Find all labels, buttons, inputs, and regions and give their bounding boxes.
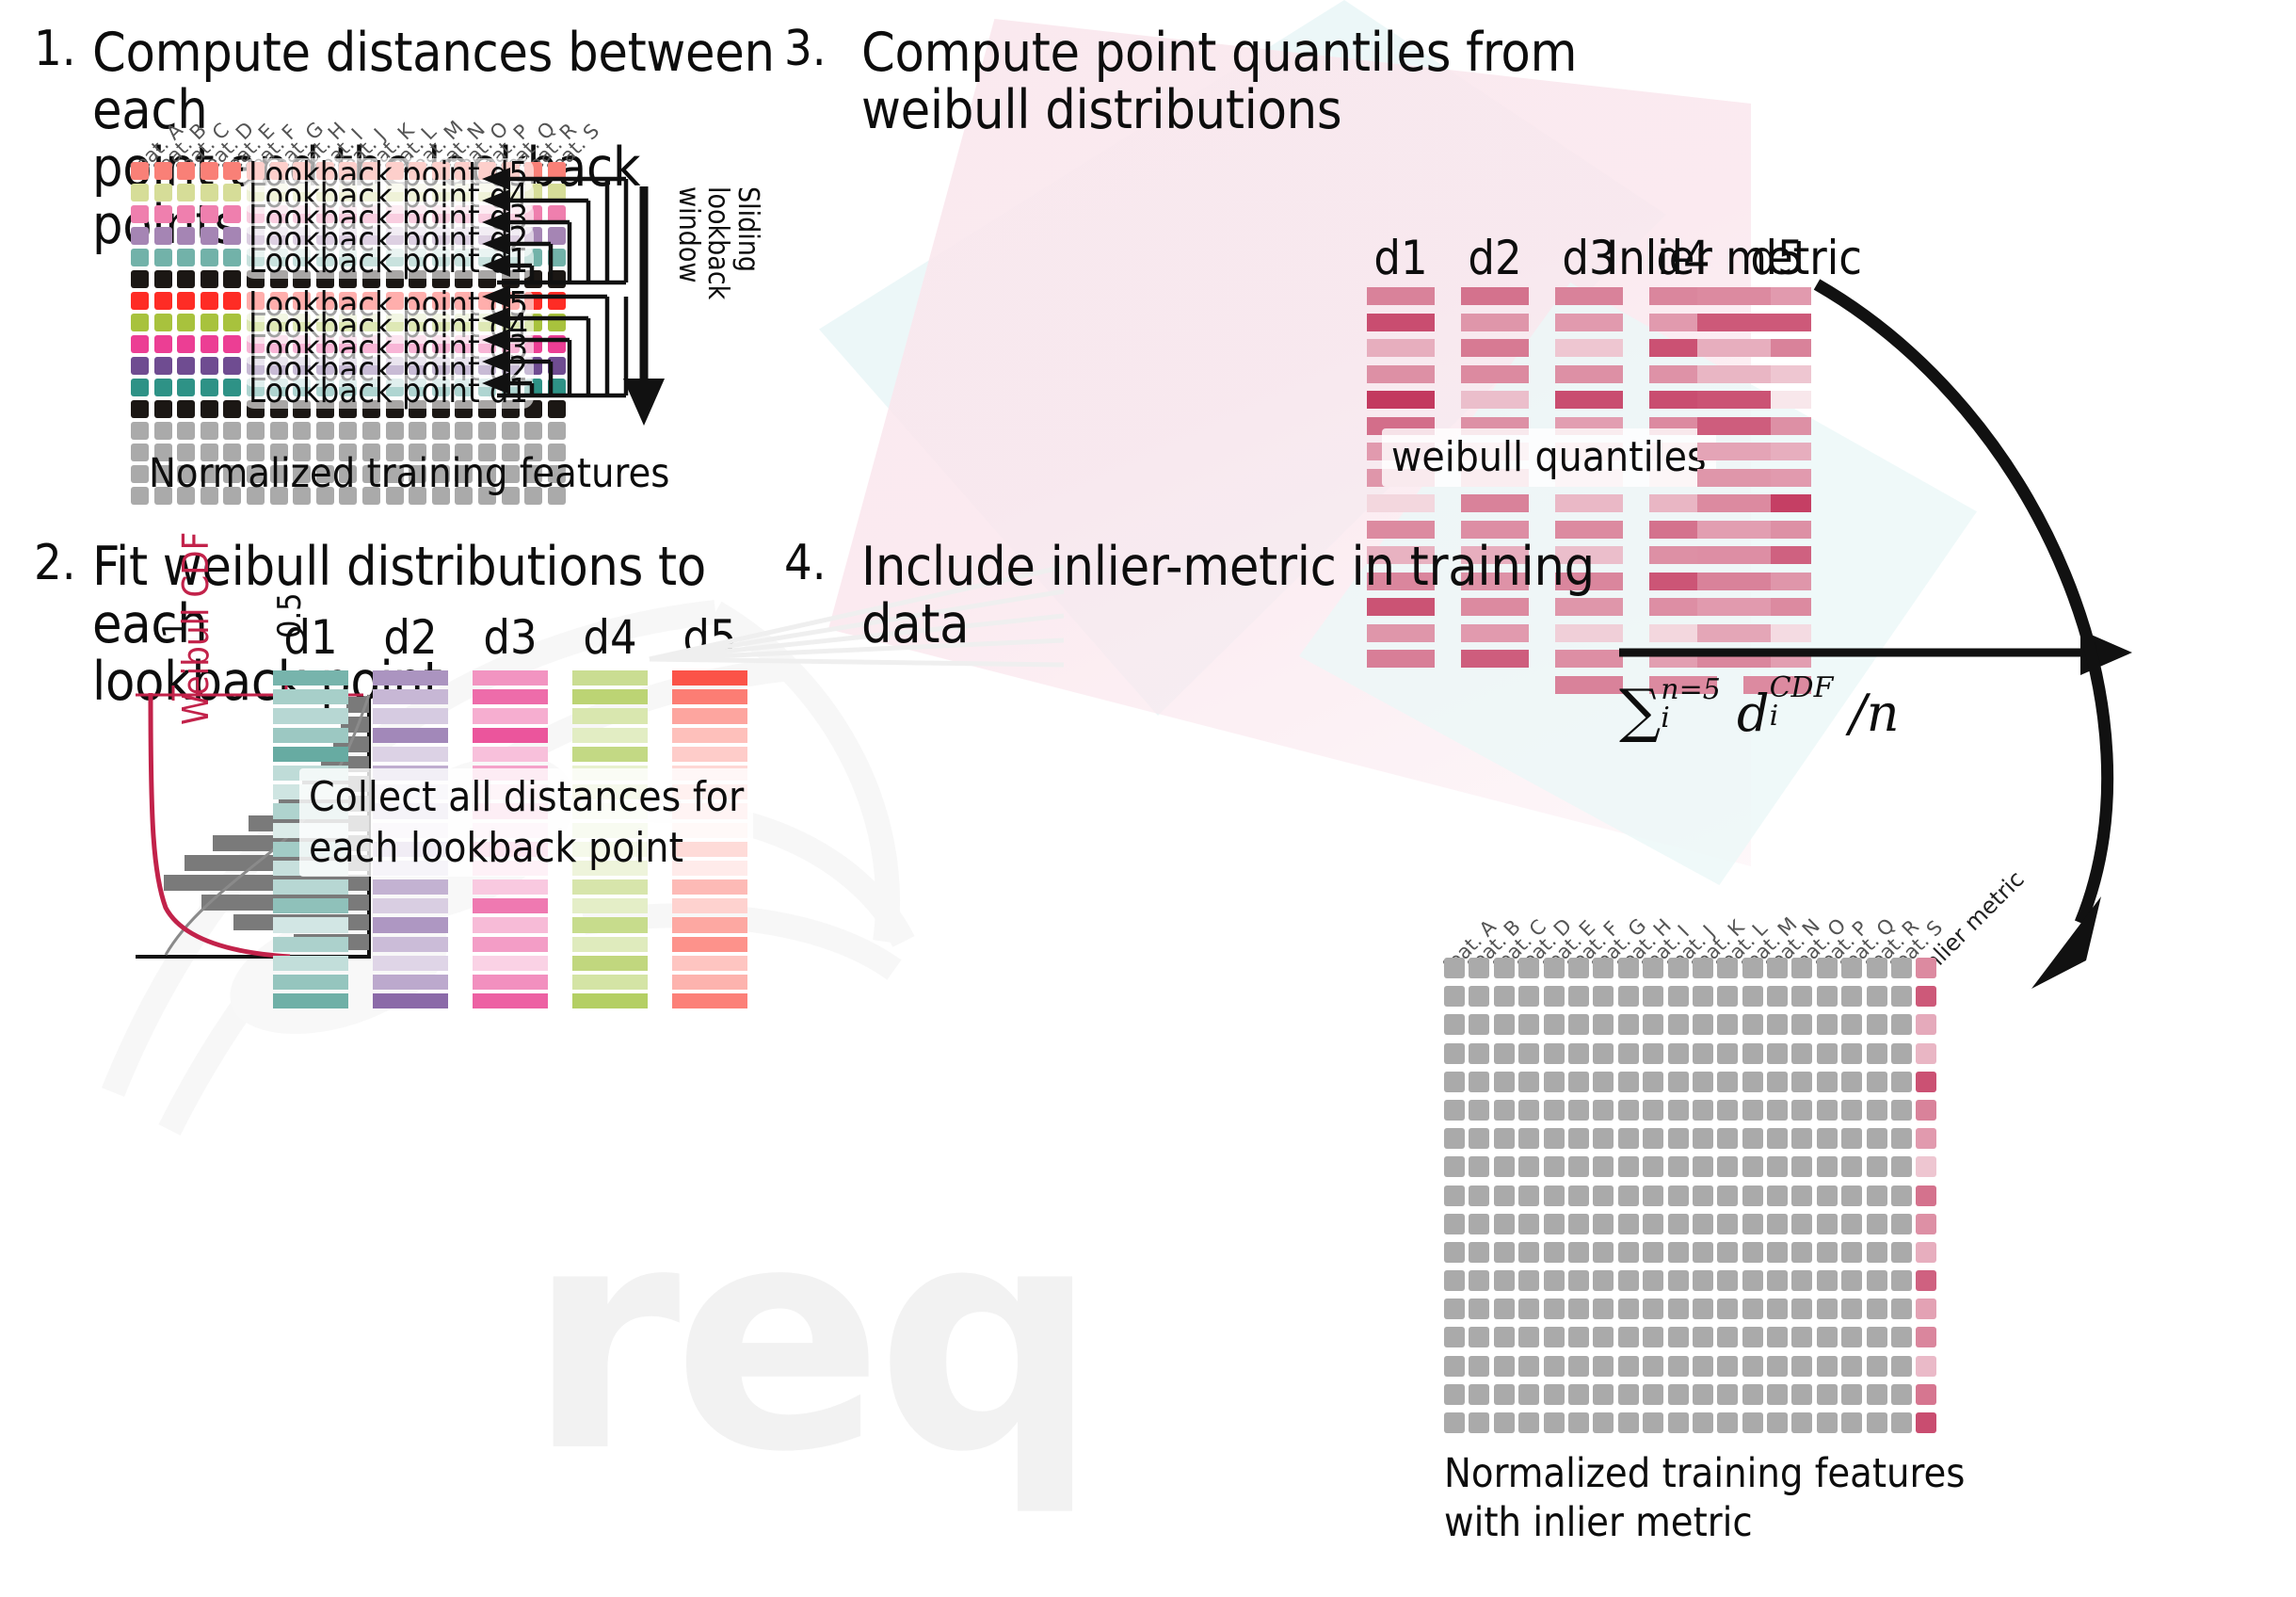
quantile-bar — [1555, 365, 1623, 383]
grid-cell — [1891, 1014, 1912, 1035]
grid-cell — [1867, 986, 1887, 1007]
inlier-metric-cell — [1916, 1128, 1936, 1149]
grid-cell — [1767, 1156, 1788, 1177]
grid-cell — [1693, 1100, 1713, 1121]
inlier-metric-cell — [1916, 1412, 1936, 1433]
grid-cell — [1693, 1214, 1713, 1234]
grid-cell — [1867, 1128, 1887, 1149]
grid-cell — [1668, 1072, 1689, 1092]
distance-bar — [572, 956, 648, 971]
grid-cell — [1841, 1356, 1862, 1377]
grid-cell — [1841, 1384, 1862, 1405]
grid-cell — [1544, 1242, 1565, 1263]
grid-cell — [1717, 1412, 1738, 1433]
grid-cell — [1518, 986, 1539, 1007]
grid-cell — [1469, 1100, 1489, 1121]
quantile-bar — [1461, 391, 1529, 409]
distance-bar — [572, 747, 648, 762]
grid-cell — [1593, 1356, 1614, 1377]
grid-cell — [1668, 1128, 1689, 1149]
grid-cell — [1891, 1242, 1912, 1263]
grid-cell — [1618, 1270, 1639, 1291]
grid-cell — [1593, 1014, 1614, 1035]
inlier-metric-cell — [1916, 1186, 1936, 1206]
grid-cell — [1544, 1356, 1565, 1377]
quantile-bar — [1461, 365, 1529, 383]
grid-cell — [1717, 986, 1738, 1007]
grid-cell — [1618, 1128, 1639, 1149]
grid-cell — [1618, 1412, 1639, 1433]
grid-cell — [1568, 1356, 1589, 1377]
grid-cell — [1668, 1299, 1689, 1319]
grid-cell — [1593, 1299, 1614, 1319]
grid-cell — [1791, 986, 1812, 1007]
grid-cell — [1568, 1043, 1589, 1064]
grid-cell — [1742, 1100, 1763, 1121]
grid-cell — [1791, 1156, 1812, 1177]
grid-cell — [1867, 958, 1887, 978]
grid-cell — [1494, 1384, 1515, 1405]
grid-cell — [1494, 1043, 1515, 1064]
grid-cell — [1891, 1356, 1912, 1377]
distance-bar — [672, 956, 747, 971]
grid-cell — [1742, 1270, 1763, 1291]
grid-cell — [1717, 1156, 1738, 1177]
grid-cell — [1841, 986, 1862, 1007]
grid-cell — [1444, 1043, 1465, 1064]
grid-cell — [1494, 1270, 1515, 1291]
grid-cell — [1817, 1412, 1838, 1433]
grid-cell — [1767, 1186, 1788, 1206]
grid-cell — [1494, 958, 1515, 978]
distance-bar — [672, 689, 747, 704]
grid-cell — [1693, 1242, 1713, 1263]
grid-cell — [1643, 1100, 1663, 1121]
grid-cell — [1668, 986, 1689, 1007]
distance-bar — [273, 956, 348, 971]
distance-bar — [273, 898, 348, 913]
panel2-overlay-label: Collect all distances for each lookback … — [299, 768, 753, 877]
grid-cell — [1867, 1412, 1887, 1433]
grid-cell — [1469, 1043, 1489, 1064]
grid-cell — [1791, 1186, 1812, 1206]
grid-cell — [1717, 1186, 1738, 1206]
step-2-number: 2. — [34, 539, 76, 588]
grid-cell — [1444, 1128, 1465, 1149]
grid-cell — [1693, 1270, 1713, 1291]
grid-cell — [1518, 1072, 1539, 1092]
grid-cell — [1791, 958, 1812, 978]
grid-cell — [1668, 1014, 1689, 1035]
grid-cell — [1444, 1014, 1465, 1035]
grid-cell — [1693, 1412, 1713, 1433]
distance-bar — [572, 708, 648, 723]
grid-cell — [1618, 1186, 1639, 1206]
grid-cell — [1742, 1242, 1763, 1263]
distance-bar — [672, 993, 747, 1008]
grid-cell — [1544, 1100, 1565, 1121]
grid-cell — [1568, 1156, 1589, 1177]
grid-cell — [1568, 1072, 1589, 1092]
inlier-metric-cell — [1916, 1043, 1936, 1064]
grid-cell — [1469, 986, 1489, 1007]
grid-cell — [1444, 1356, 1465, 1377]
grid-cell — [1494, 1242, 1515, 1263]
grid-cell — [1867, 1327, 1887, 1347]
grid-cell — [1568, 1128, 1589, 1149]
panel4-feature-grid — [1444, 958, 1936, 1441]
grid-cell — [1469, 1072, 1489, 1092]
grid-cell — [1494, 986, 1515, 1007]
panel4-grid-row — [1444, 1327, 1936, 1355]
grid-cell — [1518, 1356, 1539, 1377]
grid-cell — [1593, 1214, 1614, 1234]
distance-bar — [572, 937, 648, 952]
grid-cell — [1693, 1043, 1713, 1064]
grid-cell — [1867, 1242, 1887, 1263]
grid-cell — [1568, 1270, 1589, 1291]
grid-cell — [1593, 1043, 1614, 1064]
grid-cell — [1867, 1384, 1887, 1405]
grid-cell — [1593, 1270, 1614, 1291]
grid-cell — [1643, 1186, 1663, 1206]
inlier-metric-cell — [1916, 1014, 1936, 1035]
panel4-grid-row — [1444, 1128, 1936, 1156]
step-4-title: Include inlier-metric in training data — [861, 539, 1709, 653]
grid-cell — [1518, 1270, 1539, 1291]
grid-cell — [1593, 1327, 1614, 1347]
grid-cell — [1593, 1100, 1614, 1121]
grid-cell — [1791, 1214, 1812, 1234]
grid-cell — [1817, 1186, 1838, 1206]
inlier-metric-cell — [1916, 1242, 1936, 1263]
grid-cell — [1469, 1156, 1489, 1177]
grid-cell — [1717, 1242, 1738, 1263]
grid-cell — [1544, 1214, 1565, 1234]
quantile-bar — [1367, 339, 1435, 357]
grid-cell — [1791, 1384, 1812, 1405]
grid-cell — [1643, 1412, 1663, 1433]
grid-cell — [1867, 1014, 1887, 1035]
grid-cell — [1767, 1072, 1788, 1092]
grid-cell — [1717, 1043, 1738, 1064]
grid-cell — [1618, 1299, 1639, 1319]
grid-cell — [1841, 1327, 1862, 1347]
distance-bar — [473, 917, 548, 932]
distance-bar — [273, 747, 348, 762]
grid-cell — [1841, 1014, 1862, 1035]
grid-cell — [1717, 1014, 1738, 1035]
grid-cell — [1867, 1100, 1887, 1121]
distance-bar — [572, 879, 648, 895]
grid-cell — [1867, 1214, 1887, 1234]
grid-cell — [1693, 1014, 1713, 1035]
grid-cell — [1693, 1299, 1713, 1319]
grid-cell — [1618, 1156, 1639, 1177]
grid-cell — [1469, 1327, 1489, 1347]
grid-cell — [1717, 1356, 1738, 1377]
grid-cell — [1469, 958, 1489, 978]
grid-cell — [1518, 958, 1539, 978]
grid-cell — [1693, 958, 1713, 978]
distance-bar — [473, 879, 548, 895]
grid-cell — [1767, 1299, 1788, 1319]
grid-cell — [1643, 1156, 1663, 1177]
inlier-metric-cell — [1916, 1072, 1936, 1092]
grid-cell — [1544, 1384, 1565, 1405]
grid-cell — [1494, 1100, 1515, 1121]
quantile-bar — [1367, 365, 1435, 383]
grid-cell — [1593, 1186, 1614, 1206]
distance-bar — [273, 993, 348, 1008]
grid-cell — [1643, 1214, 1663, 1234]
grid-cell — [1767, 1270, 1788, 1291]
grid-cell — [1593, 1412, 1614, 1433]
quantile-bar — [1367, 287, 1435, 305]
grid-cell — [1544, 1186, 1565, 1206]
grid-cell — [1742, 986, 1763, 1007]
grid-cell — [1817, 958, 1838, 978]
grid-cell — [1494, 1356, 1515, 1377]
grid-cell — [1494, 1299, 1515, 1319]
grid-cell — [1693, 1356, 1713, 1377]
grid-cell — [1469, 1242, 1489, 1263]
grid-cell — [1817, 1270, 1838, 1291]
grid-cell — [1817, 1156, 1838, 1177]
grid-cell — [1791, 1270, 1812, 1291]
grid-cell — [1742, 1072, 1763, 1092]
distance-bar — [273, 975, 348, 990]
distance-bar — [373, 708, 448, 723]
distance-bar — [473, 993, 548, 1008]
grid-cell — [1544, 1128, 1565, 1149]
grid-cell — [1742, 1043, 1763, 1064]
grid-cell — [1841, 1214, 1862, 1234]
grid-cell — [1593, 958, 1614, 978]
grid-cell — [1767, 1128, 1788, 1149]
grid-cell — [1867, 1156, 1887, 1177]
grid-cell — [1593, 1072, 1614, 1092]
grid-cell — [1469, 1186, 1489, 1206]
grid-cell — [1544, 1412, 1565, 1433]
inlier-metric-cell — [1916, 1299, 1936, 1319]
grid-cell — [1668, 1100, 1689, 1121]
distance-bar — [672, 917, 747, 932]
distance-bar — [473, 728, 548, 743]
grid-cell — [1817, 1356, 1838, 1377]
distance-bar — [373, 937, 448, 952]
grid-cell — [1742, 1327, 1763, 1347]
step-3-number: 3. — [784, 24, 827, 73]
grid-cell — [1618, 1043, 1639, 1064]
grid-cell — [1544, 1043, 1565, 1064]
distance-bar — [273, 917, 348, 932]
grid-cell — [1717, 1072, 1738, 1092]
grid-cell — [1791, 1100, 1812, 1121]
grid-cell — [1444, 1072, 1465, 1092]
distance-bar — [373, 747, 448, 762]
grid-cell — [1494, 1128, 1515, 1149]
grid-cell — [1643, 1242, 1663, 1263]
grid-cell — [1494, 1327, 1515, 1347]
grid-cell — [1717, 1128, 1738, 1149]
panel4-grid-row — [1444, 1242, 1936, 1270]
grid-cell — [1544, 958, 1565, 978]
grid-cell — [1817, 1384, 1838, 1405]
grid-cell — [1841, 1072, 1862, 1092]
grid-cell — [1891, 1214, 1912, 1234]
grid-cell — [1817, 1128, 1838, 1149]
grid-cell — [1717, 958, 1738, 978]
grid-cell — [1618, 986, 1639, 1007]
distance-bar — [572, 975, 648, 990]
distance-bar — [373, 956, 448, 971]
quantile-bar — [1367, 494, 1435, 512]
grid-cell — [1568, 1327, 1589, 1347]
grid-cell — [1444, 1214, 1465, 1234]
grid-cell — [1791, 1128, 1812, 1149]
inlier-metric-cell — [1916, 1156, 1936, 1177]
grid-cell — [1841, 1270, 1862, 1291]
panel4-grid-row — [1444, 1299, 1936, 1327]
quantile-bar — [1555, 391, 1623, 409]
grid-cell — [1767, 1384, 1788, 1405]
distance-bar — [473, 689, 548, 704]
grid-cell — [1742, 1156, 1763, 1177]
quantile-bar — [1555, 287, 1623, 305]
grid-cell — [1891, 1186, 1912, 1206]
grid-cell — [1469, 1412, 1489, 1433]
grid-cell — [1841, 1299, 1862, 1319]
grid-cell — [1891, 1299, 1912, 1319]
grid-cell — [1791, 1043, 1812, 1064]
grid-cell — [1841, 1100, 1862, 1121]
step-4-number: 4. — [784, 539, 827, 588]
panel4-grid-row — [1444, 986, 1936, 1014]
grid-cell — [1544, 1072, 1565, 1092]
distance-bar — [473, 708, 548, 723]
grid-cell — [1494, 1186, 1515, 1206]
grid-cell — [1544, 1014, 1565, 1035]
grid-cell — [1767, 958, 1788, 978]
grid-cell — [1618, 958, 1639, 978]
panel4-grid-row — [1444, 1412, 1936, 1441]
grid-cell — [1444, 958, 1465, 978]
grid-cell — [1668, 1186, 1689, 1206]
grid-cell — [1817, 1014, 1838, 1035]
grid-cell — [1643, 1072, 1663, 1092]
grid-cell — [1668, 1043, 1689, 1064]
grid-cell — [1693, 1072, 1713, 1092]
grid-cell — [1817, 1072, 1838, 1092]
grid-cell — [1668, 1156, 1689, 1177]
quantile-bar — [1555, 314, 1623, 331]
panel1-caption: Normalized training features — [149, 450, 669, 499]
grid-cell — [1767, 1214, 1788, 1234]
distance-bar — [273, 708, 348, 723]
grid-cell — [1518, 1128, 1539, 1149]
grid-cell — [1518, 1100, 1539, 1121]
grid-cell — [1817, 1214, 1838, 1234]
grid-cell — [1643, 1270, 1663, 1291]
grid-cell — [1544, 986, 1565, 1007]
distance-bar — [373, 993, 448, 1008]
grid-cell — [1767, 1356, 1788, 1377]
grid-cell — [1742, 1356, 1763, 1377]
grid-cell — [1668, 1242, 1689, 1263]
grid-cell — [1791, 1412, 1812, 1433]
grid-cell — [1643, 1043, 1663, 1064]
grid-cell — [1544, 1327, 1565, 1347]
grid-cell — [1767, 1242, 1788, 1263]
grid-cell — [1717, 1384, 1738, 1405]
grid-cell — [1891, 1412, 1912, 1433]
grid-cell — [1742, 1014, 1763, 1035]
grid-cell — [1717, 1299, 1738, 1319]
grid-cell — [1568, 958, 1589, 978]
grid-cell — [1568, 1214, 1589, 1234]
grid-cell — [1518, 1214, 1539, 1234]
grid-cell — [1841, 1043, 1862, 1064]
grid-cell — [1518, 1384, 1539, 1405]
grid-cell — [1494, 1072, 1515, 1092]
grid-cell — [1668, 1327, 1689, 1347]
grid-cell — [1544, 1156, 1565, 1177]
grid-cell — [1742, 958, 1763, 978]
grid-cell — [1817, 1100, 1838, 1121]
grid-cell — [1593, 1384, 1614, 1405]
grid-cell — [1867, 1043, 1887, 1064]
distance-bar — [373, 898, 448, 913]
inlier-metric-cell — [1916, 1270, 1936, 1291]
grid-cell — [1643, 958, 1663, 978]
grid-cell — [1891, 958, 1912, 978]
grid-cell — [1742, 1384, 1763, 1405]
grid-cell — [1817, 1299, 1838, 1319]
grid-cell — [1444, 1412, 1465, 1433]
grid-cell — [1518, 1327, 1539, 1347]
grid-cell — [1469, 1128, 1489, 1149]
quantile-bar — [1461, 314, 1529, 331]
grid-cell — [1742, 1128, 1763, 1149]
grid-cell — [1717, 1327, 1738, 1347]
grid-cell — [1568, 986, 1589, 1007]
grid-cell — [1618, 1014, 1639, 1035]
panel4-grid-row — [1444, 1186, 1936, 1214]
sliding-window-arrow — [623, 186, 665, 426]
distance-bar — [473, 975, 548, 990]
distance-bar — [473, 670, 548, 686]
grid-cell — [1891, 1100, 1912, 1121]
grid-cell — [1494, 1156, 1515, 1177]
quantile-bar — [1555, 339, 1623, 357]
grid-cell — [1767, 1043, 1788, 1064]
grid-cell — [1891, 1327, 1912, 1347]
grid-cell — [1791, 1072, 1812, 1092]
grid-cell — [1717, 1270, 1738, 1291]
quantile-bar — [1461, 339, 1529, 357]
quantile-bar — [1367, 314, 1435, 331]
grid-cell — [1693, 1327, 1713, 1347]
grid-cell — [1593, 1242, 1614, 1263]
grid-cell — [1791, 1356, 1812, 1377]
distance-bar — [273, 728, 348, 743]
grid-cell — [1867, 1270, 1887, 1291]
inlier-metric-cell — [1916, 986, 1936, 1007]
distance-bar — [672, 747, 747, 762]
grid-cell — [1518, 1014, 1539, 1035]
grid-cell — [1693, 1384, 1713, 1405]
